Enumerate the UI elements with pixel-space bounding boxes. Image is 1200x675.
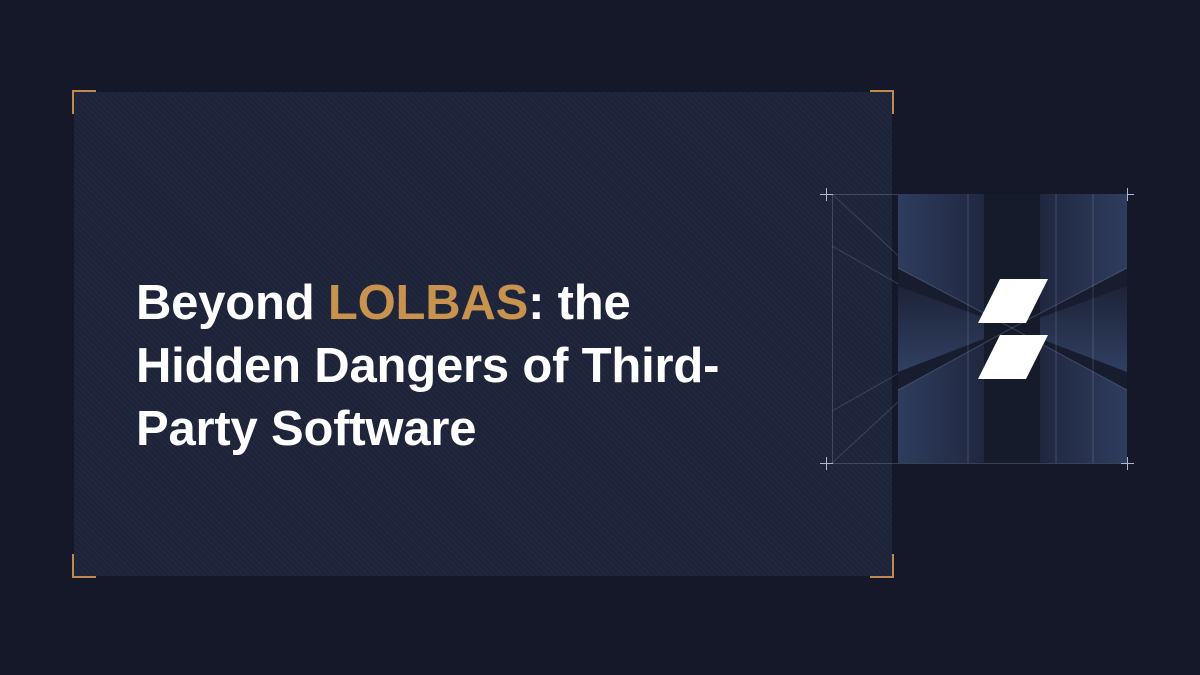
bracket-horizontal-segment	[870, 576, 894, 578]
title-slide: Beyond LOLBAS: the Hidden Dangers of Thi…	[0, 0, 1200, 675]
bracket-vertical-segment	[892, 554, 894, 578]
corner-bracket-bottom-right	[870, 554, 894, 578]
title-accent-word: LOLBAS	[328, 276, 528, 330]
title-suffix: : the	[528, 276, 630, 330]
title-line-2: Hidden Dangers of Third-	[136, 335, 756, 398]
corner-bracket-top-left	[72, 90, 96, 114]
bracket-vertical-segment	[892, 90, 894, 114]
bracket-horizontal-segment	[72, 90, 96, 92]
title-line-3: Party Software	[136, 398, 756, 461]
title-prefix: Beyond	[136, 276, 328, 330]
logo-construction-area	[818, 186, 1136, 472]
corner-bracket-top-right	[870, 90, 894, 114]
bracket-horizontal-segment	[870, 90, 894, 92]
brand-logo-mark	[898, 194, 1127, 463]
bracket-vertical-segment	[72, 90, 74, 114]
logo-glyph-icon	[978, 279, 1048, 379]
title-line-1: Beyond LOLBAS: the	[136, 272, 756, 335]
bracket-vertical-segment	[72, 554, 74, 578]
bracket-horizontal-segment	[72, 576, 96, 578]
corner-bracket-bottom-left	[72, 554, 96, 578]
page-title: Beyond LOLBAS: the Hidden Dangers of Thi…	[136, 272, 756, 461]
